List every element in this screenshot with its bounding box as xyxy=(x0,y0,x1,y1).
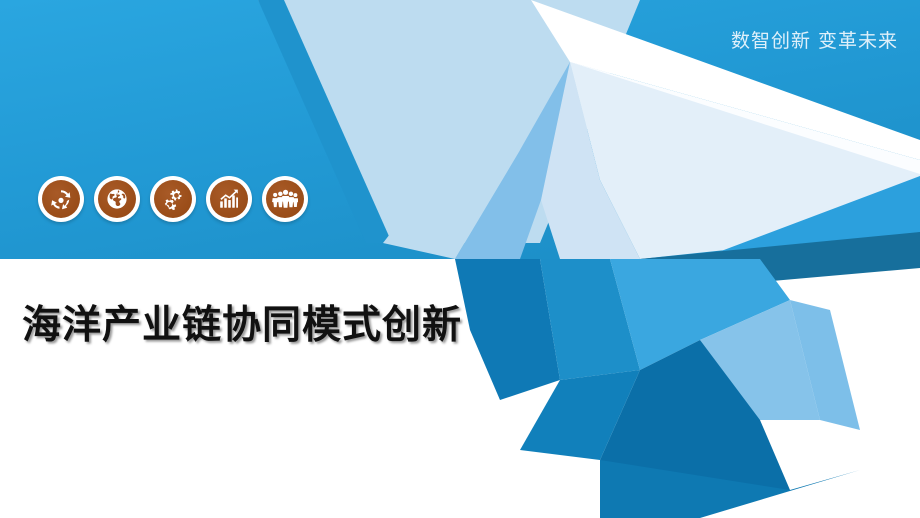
badge-fill xyxy=(98,180,136,218)
page-title: 海洋产业链协同模式创新 xyxy=(22,294,462,350)
badge-recycle-arrows[interactable] xyxy=(38,176,84,222)
people-group-icon xyxy=(272,187,298,211)
badge-fill xyxy=(210,180,248,218)
gears-icon xyxy=(161,187,186,212)
globe-icon xyxy=(105,187,129,211)
icon-badge-row xyxy=(38,176,308,222)
header-tagline: 数智创新 变革未来 xyxy=(731,26,898,53)
badge-gears[interactable] xyxy=(150,176,196,222)
badge-bar-chart[interactable] xyxy=(206,176,252,222)
bar-chart-icon xyxy=(217,187,241,211)
badge-people-group[interactable] xyxy=(262,176,308,222)
badge-fill xyxy=(154,180,192,218)
badge-fill xyxy=(266,180,304,218)
slide-canvas: 数智创新 变革未来 xyxy=(0,0,920,518)
recycle-arrows-icon xyxy=(49,187,73,211)
badge-globe[interactable] xyxy=(94,176,140,222)
badge-fill xyxy=(42,180,80,218)
low-poly-origami-graphic xyxy=(0,0,920,518)
